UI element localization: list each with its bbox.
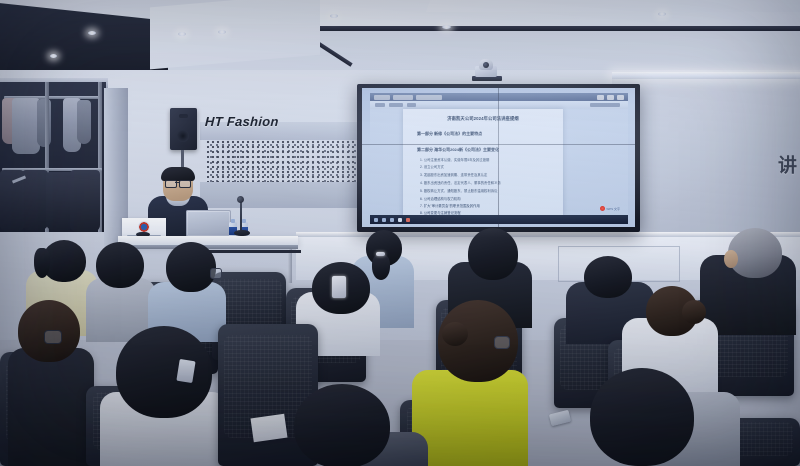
- eyeglasses-icon: [210, 268, 222, 279]
- document-title: 济南凯天公司2024年公司法讲座提纲: [403, 116, 563, 122]
- ht-fashion-logo: HT Fashion: [205, 114, 280, 129]
- presentation-app-window[interactable]: 济南凯天公司2024年公司法讲座提纲 第一部分 新修《公司法》的主要特点 第二部…: [370, 93, 628, 224]
- document-list-item: 6. 公司治理结构与权力机构: [420, 196, 461, 201]
- skylight-panel-2: [426, 0, 800, 12]
- document-list-item: 2. 设立公司方式: [420, 164, 444, 169]
- document-list-item: 3. 发起股东出资加速到期、连带责任及其认定: [420, 172, 487, 177]
- downlight-icon: [658, 12, 666, 16]
- window-minimize-icon[interactable]: [597, 95, 604, 100]
- decor-pebble-panel: [206, 140, 364, 182]
- ceiling-panel-left: [150, 0, 320, 69]
- garment-rack: [0, 82, 106, 232]
- hair-clip-icon: [332, 276, 346, 298]
- handout-paper[interactable]: [250, 414, 287, 442]
- document-heading: 第二部分 海华公司2024新《公司法》主要变化: [417, 147, 499, 153]
- ceiling-beam-1: [285, 26, 800, 31]
- wps-label: WPS 文字: [606, 207, 620, 211]
- document-page: 济南凯天公司2024年公司法讲座提纲 第一部分 新修《公司法》的主要特点 第二部…: [403, 109, 563, 216]
- attendee-head: [116, 326, 212, 418]
- microphone-icon: [237, 196, 244, 203]
- ribbon-button[interactable]: [389, 103, 403, 107]
- app-tab[interactable]: [393, 95, 413, 100]
- bottle-cap: [231, 219, 235, 223]
- camera-lens-icon: [483, 62, 489, 68]
- window-maximize-icon[interactable]: [607, 95, 614, 100]
- video-wall-seam-vertical: [498, 88, 499, 227]
- eyeglasses-icon: [44, 330, 62, 344]
- windows-taskbar[interactable]: [370, 215, 628, 224]
- downlight-icon: [50, 54, 57, 58]
- wps-watermark: WPS 文字: [600, 206, 620, 211]
- smartphone-icon[interactable]: [176, 359, 195, 383]
- ribbon-button-group[interactable]: [590, 103, 620, 107]
- attendee-torso: [412, 370, 528, 466]
- attendee-head: [590, 368, 694, 466]
- garment-item: [70, 170, 100, 232]
- wps-taskbar-icon[interactable]: [406, 218, 410, 222]
- gooseneck-mic-stem: [240, 199, 242, 231]
- video-wall-display[interactable]: 济南凯天公司2024年公司法讲座提纲 第一部分 新修《公司法》的主要特点 第二部…: [362, 88, 635, 227]
- search-icon[interactable]: [382, 218, 386, 222]
- document-list-item: 5. 股权转让方式、通知股东、禁止股东滥用权利诉讼: [420, 188, 497, 193]
- attendee-head: [294, 384, 390, 466]
- attendee-hair-bun: [682, 300, 706, 324]
- window-close-icon[interactable]: [617, 95, 624, 100]
- downlight-icon: [330, 14, 338, 18]
- meeting-room-photo: 讲 HT Fashion: [0, 0, 800, 466]
- smartphone-icon[interactable]: [549, 410, 571, 426]
- hair-tie: [376, 252, 385, 256]
- presenter-table: [118, 236, 298, 245]
- eyeglasses-bridge: [175, 182, 179, 183]
- attendee-head: [96, 242, 144, 288]
- browser-icon[interactable]: [398, 218, 402, 222]
- video-wall-seam-horizontal: [362, 144, 635, 145]
- attendee-torso: [8, 348, 94, 466]
- document-heading: 第一部分 新修《公司法》的主要特点: [417, 131, 482, 137]
- app-tab[interactable]: [416, 95, 442, 100]
- wall-chinese-text: 讲: [758, 155, 800, 235]
- wall-speaker: [170, 108, 197, 150]
- garment-item: [12, 98, 40, 154]
- attendee-head: [584, 256, 632, 298]
- table-crossbar: [205, 250, 301, 253]
- eyeglasses-icon: [494, 336, 510, 349]
- laptop-screen: [188, 212, 229, 235]
- downlight-icon: [218, 30, 226, 34]
- attendee-ponytail: [34, 248, 50, 278]
- app-ribbon-toolbar[interactable]: [370, 101, 628, 109]
- attendee-head: [468, 228, 518, 280]
- attendee-head: [166, 242, 216, 292]
- speaker-tweeter: [179, 114, 188, 118]
- attendee-ponytail: [372, 254, 390, 280]
- downlight-icon: [178, 32, 186, 36]
- speaker-cone: [177, 130, 189, 142]
- garment-item: [77, 100, 91, 144]
- wps-logo-icon: [600, 206, 605, 211]
- app-tab[interactable]: [374, 95, 390, 100]
- downlight-icon: [88, 31, 96, 35]
- attendee-hair-bun: [442, 322, 468, 346]
- wall-led-strip: [612, 72, 800, 79]
- attendee-ear: [724, 250, 738, 268]
- garment-item: [22, 170, 48, 230]
- ribbon-button[interactable]: [407, 103, 416, 107]
- downlight-icon: [442, 25, 451, 29]
- bottle-cap: [242, 219, 246, 223]
- table-leg: [288, 249, 292, 283]
- ribbon-button[interactable]: [375, 103, 385, 107]
- eyeglasses-icon: [179, 180, 191, 188]
- decor-band-bottom: [200, 182, 365, 208]
- presenter-hair: [161, 167, 195, 181]
- app-titlebar: [370, 93, 628, 101]
- explorer-icon[interactable]: [390, 218, 394, 222]
- document-list-item: 4. 股东出资违约责任、法定代表人、董事的责任和义务: [420, 180, 501, 185]
- presenter-laptop[interactable]: [186, 210, 231, 237]
- start-icon[interactable]: [374, 218, 378, 222]
- document-list-item: 1. 公司注册资本认缴、实缴年限5年及其过渡期: [420, 157, 489, 162]
- document-list-item: 7. 扩大"审计委员会"的职责范围及其作用: [420, 203, 480, 208]
